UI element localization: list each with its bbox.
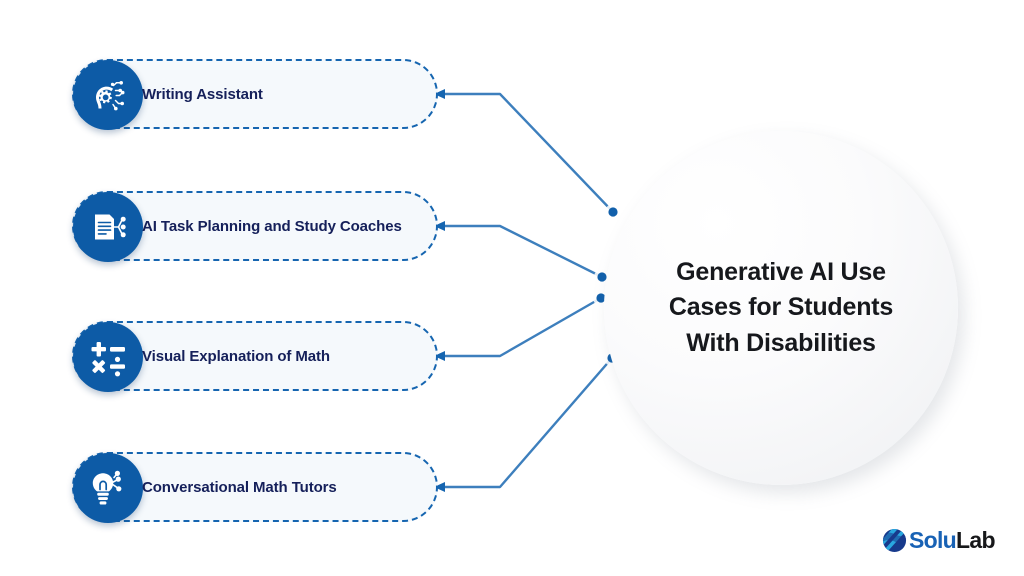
connector-path-2	[442, 226, 602, 277]
solulab-logo[interactable]: SoluLab	[882, 527, 995, 553]
junction-dot-1-halo	[605, 204, 621, 220]
diagram-canvas: Generative AI Use Cases for Students Wit…	[0, 0, 1024, 576]
lightbulb-network-icon	[73, 453, 143, 523]
connector-path-4	[442, 358, 612, 487]
logo-text-lab: Lab	[956, 527, 995, 553]
connector-path-3	[442, 298, 601, 356]
solulab-swirl-icon	[882, 528, 907, 553]
page-title-line-3: With Disabilities	[631, 326, 931, 362]
head-gear-circuit-icon	[73, 60, 143, 130]
math-operators-icon	[73, 322, 143, 392]
center-node: Generative AI Use Cases for Students Wit…	[604, 131, 958, 485]
logo-text-solu: Solu	[909, 527, 956, 553]
document-network-icon	[73, 192, 143, 262]
node-label: Visual Explanation of Math	[142, 348, 330, 365]
node-conversational-tutors[interactable]: Conversational Math Tutors	[72, 452, 438, 522]
page-title-line-1: Generative AI Use	[631, 255, 931, 291]
junction-dot-1	[608, 207, 617, 216]
node-ai-task-planning[interactable]: AI Task Planning and Study Coaches	[72, 191, 438, 261]
node-label: AI Task Planning and Study Coaches	[142, 218, 402, 235]
node-writing-assistant[interactable]: Writing Assistant	[72, 59, 438, 129]
connector-path-1	[442, 94, 613, 212]
node-visual-math[interactable]: Visual Explanation of Math	[72, 321, 438, 391]
page-title-line-2: Cases for Students	[631, 290, 931, 326]
connector-arrowheads	[434, 89, 445, 492]
node-label: Conversational Math Tutors	[142, 479, 337, 496]
node-label: Writing Assistant	[142, 86, 263, 103]
page-title: Generative AI Use Cases for Students Wit…	[631, 255, 931, 362]
solulab-wordmark: SoluLab	[909, 529, 995, 552]
